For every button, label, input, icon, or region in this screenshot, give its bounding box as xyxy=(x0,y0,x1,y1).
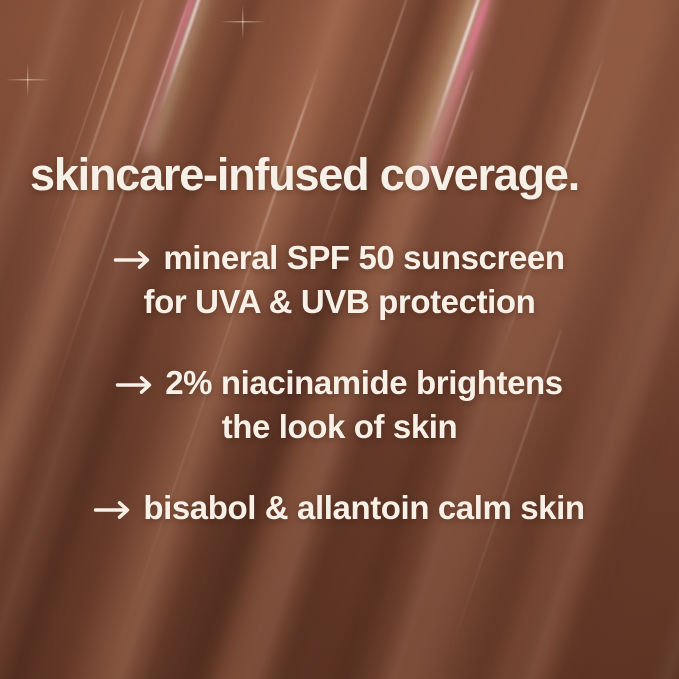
page-title: skincare-infused coverage. xyxy=(30,152,660,197)
list-item: bisabol & allantoin calm skin xyxy=(0,486,679,530)
bullet-text: 2% niacinamide brightens xyxy=(165,364,563,401)
bullet-text: bisabol & allantoin calm skin xyxy=(143,489,584,526)
benefits-list: mineral SPF 50 sunscreen for UVA & UVB p… xyxy=(0,236,679,530)
bullet-line-primary: bisabol & allantoin calm skin xyxy=(0,486,679,530)
text-content: skincare-infused coverage. mineral SPF 5… xyxy=(0,0,679,679)
bullet-line-secondary: the look of skin xyxy=(0,405,679,449)
bullet-line-secondary: for UVA & UVB protection xyxy=(0,280,679,324)
bullet-line-primary: 2% niacinamide brightens xyxy=(0,361,679,405)
arrow-right-icon xyxy=(94,500,134,520)
bullet-line-primary: mineral SPF 50 sunscreen xyxy=(0,236,679,280)
promo-graphic: skincare-infused coverage. mineral SPF 5… xyxy=(0,0,679,679)
arrow-right-icon xyxy=(116,375,156,395)
list-item: mineral SPF 50 sunscreen for UVA & UVB p… xyxy=(0,236,679,323)
bullet-text: mineral SPF 50 sunscreen xyxy=(163,239,564,276)
arrow-right-icon xyxy=(114,250,154,270)
list-item: 2% niacinamide brightens the look of ski… xyxy=(0,361,679,448)
